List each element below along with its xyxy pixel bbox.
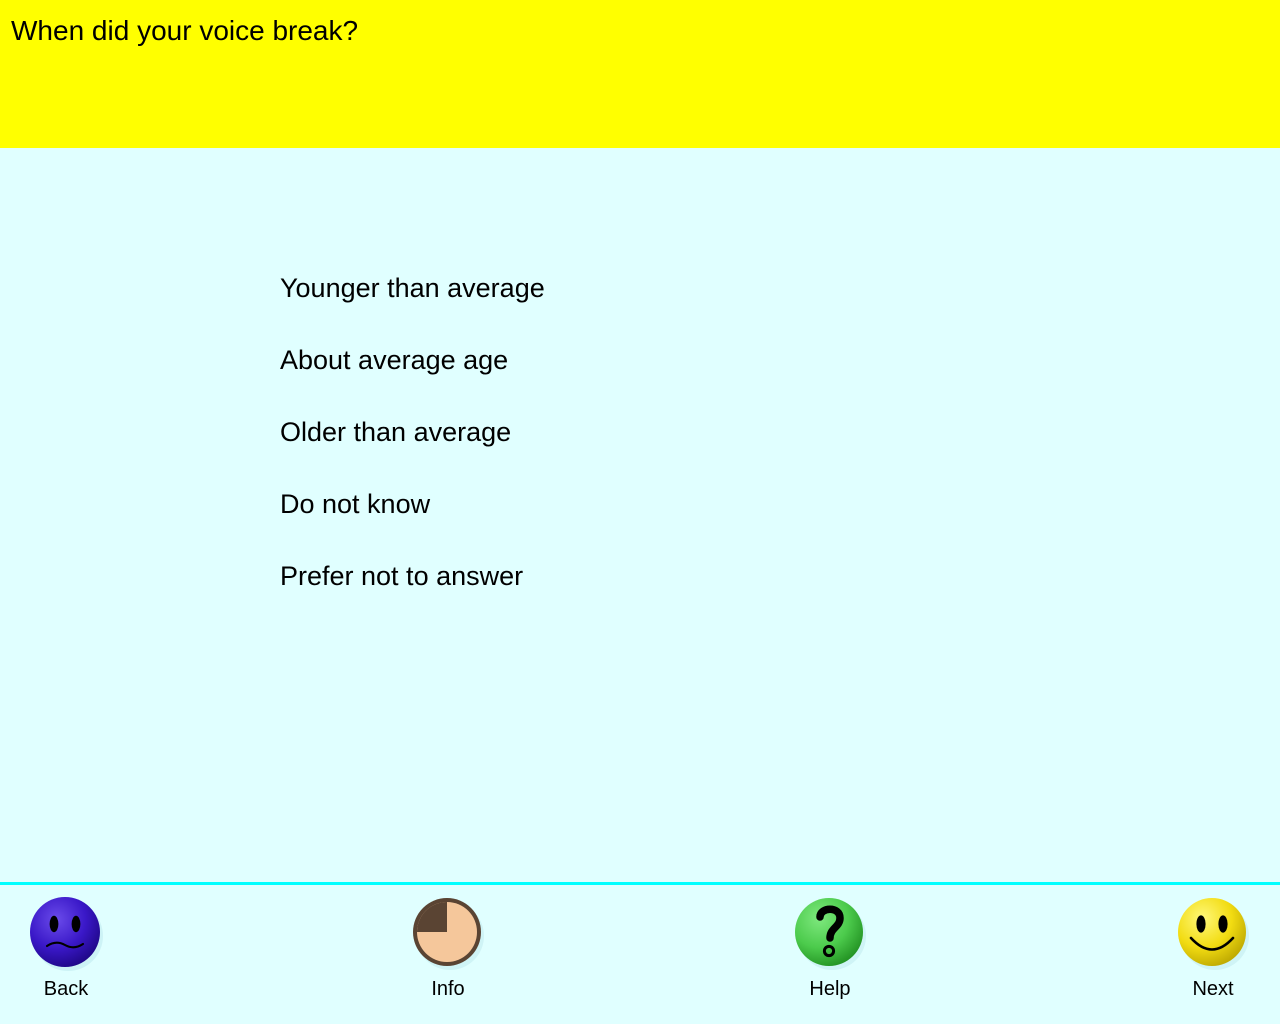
option-younger-than-average[interactable]: Younger than average <box>280 268 545 308</box>
option-prefer-not-to-answer[interactable]: Prefer not to answer <box>280 556 523 596</box>
next-button[interactable]: Next <box>1147 893 1279 1001</box>
info-button[interactable]: Info <box>382 893 514 1001</box>
smiley-face-icon <box>1174 893 1252 971</box>
info-button-label: Info <box>382 977 514 1001</box>
question-mark-icon <box>791 893 869 971</box>
question-text: When did your voice break? <box>11 12 358 50</box>
back-button-label: Back <box>0 977 132 1001</box>
help-button-label: Help <box>764 977 896 1001</box>
option-label: Do not know <box>280 487 430 521</box>
option-older-than-average[interactable]: Older than average <box>280 412 511 452</box>
option-label: Prefer not to answer <box>280 559 523 593</box>
option-label: About average age <box>280 343 508 377</box>
question-header: When did your voice break? <box>0 0 1280 148</box>
option-about-average-age[interactable]: About average age <box>280 340 508 380</box>
options-list: Younger than average About average age O… <box>0 148 1280 882</box>
back-button[interactable]: Back <box>0 893 132 1001</box>
bottom-navigation-bar: Back Info Help <box>0 885 1280 1024</box>
sad-face-icon <box>27 893 105 971</box>
option-label: Younger than average <box>280 271 545 305</box>
option-do-not-know[interactable]: Do not know <box>280 484 430 524</box>
pie-chart-icon <box>409 893 487 971</box>
option-label: Older than average <box>280 415 511 449</box>
next-button-label: Next <box>1147 977 1279 1001</box>
help-button[interactable]: Help <box>764 893 896 1001</box>
